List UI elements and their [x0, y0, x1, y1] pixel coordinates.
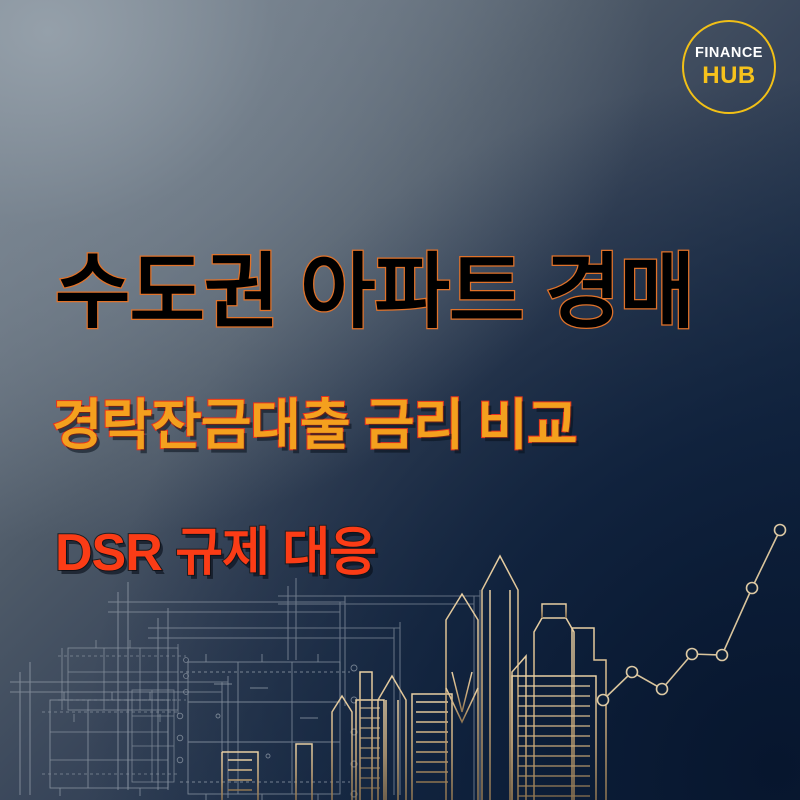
headline-secondary: 경락잔금대출 금리 비교 [52, 398, 577, 453]
headline-tertiary: DSR 규제 대응 [55, 527, 376, 579]
poster-canvas: FINANCE HUB 수도권 아파트 경매 경락잔금대출 금리 비교 DSR … [0, 0, 800, 800]
headline-primary: 수도권 아파트 경매 [55, 252, 694, 334]
headline-group: 수도권 아파트 경매 경락잔금대출 금리 비교 DSR 규제 대응 [0, 0, 800, 800]
